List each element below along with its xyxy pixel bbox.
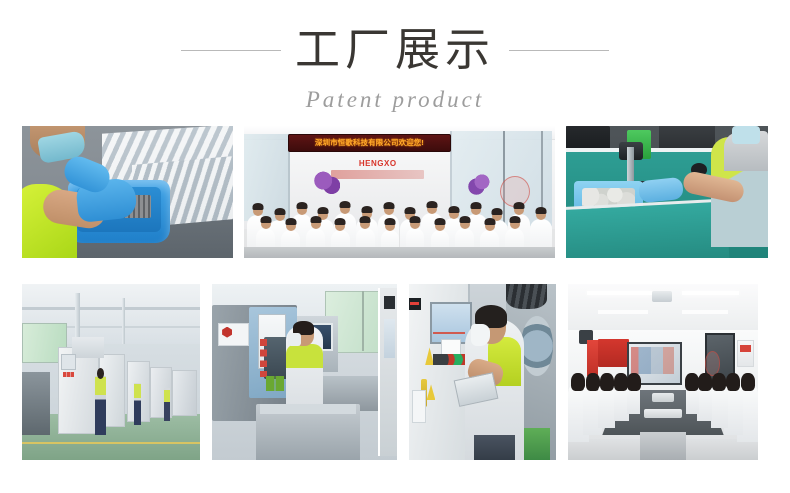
section-header: 工厂展示 Patent product [0,22,790,113]
machine-rotary-wheel [521,316,553,376]
title-row: 工厂展示 [0,22,790,78]
inspector-face-mask [732,126,760,144]
technician-trousers [474,435,515,460]
page-title: 工厂展示 [295,25,495,75]
adjacent-machine-document-holder [384,319,395,358]
photo-meeting-room [568,284,758,460]
photo-microscope-inspection-scene [566,126,768,258]
photo-technician-clipboard [409,284,556,460]
machine-control-buttons [260,339,267,378]
wall-poster [737,340,754,367]
foreground-equipment [22,372,50,435]
ceiling-beam-1 [22,307,200,310]
title-rule-left [181,50,281,51]
conference-table-base [640,432,686,460]
wall-company-logo: HENGXO [337,158,418,170]
wall-company-name-strip [331,170,424,179]
metal-parts-cart-top [260,404,356,415]
photo-sorting-parts [22,126,233,258]
photo-team-group: 深圳市恒歌科技有限公司欢迎您! HENGXO [244,126,555,258]
cabinet-document-sheet [441,339,461,355]
photo-technician-clipboard-scene [409,284,556,460]
attendee [697,383,712,422]
photo-cnc-operator-scene [212,284,397,460]
gallery-row-top: 深圳市恒歌科技有限公司欢迎您! HENGXO [22,126,768,258]
cnc-machine-5 [172,370,197,416]
photo-microscope-inspection [566,126,768,258]
machine-brand-label [218,323,250,346]
cnc-operator-face-mask [288,333,301,345]
machine-safety-stickers [266,376,285,392]
attendee [627,383,640,415]
cabinet-digital-readout [409,298,421,310]
title-rule-right [509,50,609,51]
cnc-machine-1-top-unit [72,337,104,358]
vertical-duct-2 [122,298,126,344]
line-operator-1-head [97,368,104,379]
ceiling-projector [652,291,673,302]
photo-production-line [22,284,200,460]
cabinet-info-tag [412,390,426,424]
cnc-machine-1-panel [61,354,75,370]
ceiling-light-4 [682,310,728,314]
table-keyboard [644,409,682,418]
gallery-row-bottom [22,284,768,460]
adjacent-machine-display [384,296,395,308]
line-operator-3-vest [164,390,170,402]
line-operator-1-vest [95,377,106,395]
esd-workbench-front [566,198,729,258]
photo-cnc-operator [212,284,397,460]
table-equipment [652,393,675,402]
photo-team-group-scene: 深圳市恒歌科技有限公司欢迎您! HENGXO [244,126,555,258]
ceiling-light-2 [682,291,739,295]
attendee [598,383,615,429]
overhead-cables [506,284,547,309]
cabinet-hmi-status-bar [433,332,465,334]
ceiling-light-1 [587,291,652,295]
cnc-machine-1-indicator-lights [63,372,74,377]
wall-banner-left [587,340,598,375]
technician-face-mask [471,324,490,345]
photo-sorting-parts-scene [22,126,233,258]
led-welcome-banner: 深圳市恒歌科技有限公司欢迎您! [288,134,452,152]
adjacent-machine [378,288,397,457]
lobby-floor [244,247,555,258]
attendee [686,383,699,415]
workshop-window-mullion [362,291,364,351]
photo-meeting-room-scene [568,284,758,460]
led-banner-text: 深圳市恒歌科技有限公司欢迎您! [315,138,424,148]
ceiling-light-3 [598,310,647,314]
photo-production-line-scene [22,284,200,460]
factory-showcase-page: 工厂展示 Patent product [0,0,790,493]
wall-company-logo-text: HENGXO [359,159,397,168]
floor-safety-line [22,442,200,444]
page-subtitle: Patent product [0,87,790,113]
attendee [711,383,728,429]
cnc-operator-vest-shoulder [286,344,323,369]
interactive-display-content [631,347,675,373]
wall-banner-red [598,339,628,367]
line-operator-2-vest [134,384,141,398]
